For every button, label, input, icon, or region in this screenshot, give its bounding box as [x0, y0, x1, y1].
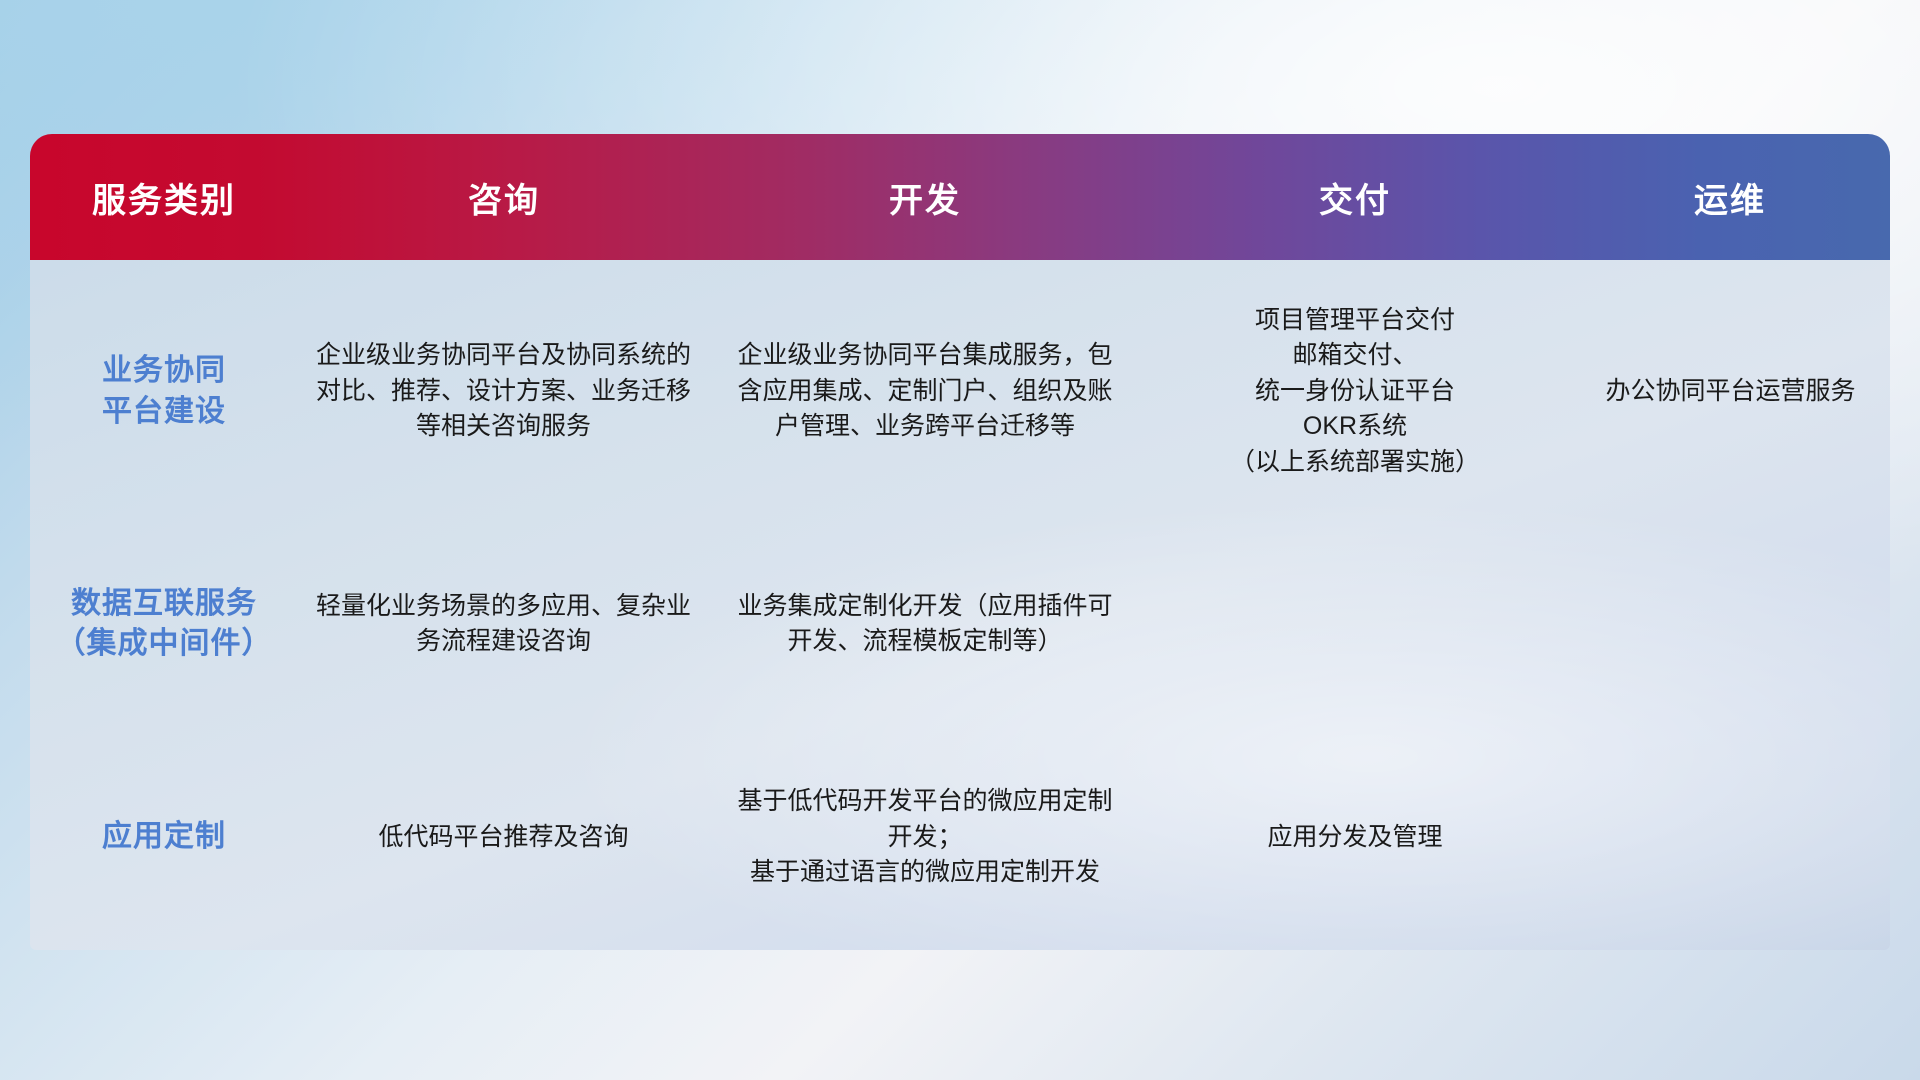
table-row: 应用定制 低代码平台推荐及咨询 基于低代码开发平台的微应用定制开发； 基于通过语…	[30, 724, 1890, 950]
table-head: 服务类别 咨询 开发 交付 运维	[30, 134, 1890, 260]
column-header-category: 服务类别	[30, 134, 298, 260]
cell-r3-delivery: 应用分发及管理	[1140, 724, 1570, 950]
row-label-business-collaboration: 业务协同 平台建设	[30, 260, 298, 524]
column-header-development: 开发	[710, 134, 1140, 260]
column-header-operations: 运维	[1570, 134, 1890, 260]
cell-r2-development: 业务集成定制化开发（应用插件可开发、流程模板定制等）	[710, 524, 1140, 724]
row-label-data-integration: 数据互联服务 （集成中间件）	[30, 524, 298, 724]
slide-canvas: 服务类别 咨询 开发 交付 运维 业务协同 平台建设 企业级业务协同平台及协同系…	[0, 0, 1920, 1080]
cell-r1-delivery: 项目管理平台交付 邮箱交付、 统一身份认证平台 OKR系统 （以上系统部署实施）	[1140, 260, 1570, 524]
column-header-consulting: 咨询	[298, 134, 710, 260]
table-row: 业务协同 平台建设 企业级业务协同平台及协同系统的对比、推荐、设计方案、业务迁移…	[30, 260, 1890, 524]
cell-r2-operations	[1570, 524, 1890, 724]
cell-r2-delivery	[1140, 524, 1570, 724]
cell-r3-operations	[1570, 724, 1890, 950]
table-row: 数据互联服务 （集成中间件） 轻量化业务场景的多应用、复杂业务流程建设咨询 业务…	[30, 524, 1890, 724]
cell-r3-development: 基于低代码开发平台的微应用定制开发； 基于通过语言的微应用定制开发	[710, 724, 1140, 950]
row-label-app-customization: 应用定制	[30, 724, 298, 950]
cell-r1-development: 企业级业务协同平台集成服务，包含应用集成、定制门户、组织及账户管理、业务跨平台迁…	[710, 260, 1140, 524]
cell-r3-consulting: 低代码平台推荐及咨询	[298, 724, 710, 950]
cell-r2-consulting: 轻量化业务场景的多应用、复杂业务流程建设咨询	[298, 524, 710, 724]
header-row: 服务类别 咨询 开发 交付 运维	[30, 134, 1890, 260]
matrix-table: 服务类别 咨询 开发 交付 运维 业务协同 平台建设 企业级业务协同平台及协同系…	[30, 134, 1890, 950]
service-matrix-table: 服务类别 咨询 开发 交付 运维 业务协同 平台建设 企业级业务协同平台及协同系…	[30, 134, 1890, 950]
column-header-delivery: 交付	[1140, 134, 1570, 260]
cell-r1-operations: 办公协同平台运营服务	[1570, 260, 1890, 524]
cell-r1-consulting: 企业级业务协同平台及协同系统的对比、推荐、设计方案、业务迁移等相关咨询服务	[298, 260, 710, 524]
table-body: 业务协同 平台建设 企业级业务协同平台及协同系统的对比、推荐、设计方案、业务迁移…	[30, 260, 1890, 950]
